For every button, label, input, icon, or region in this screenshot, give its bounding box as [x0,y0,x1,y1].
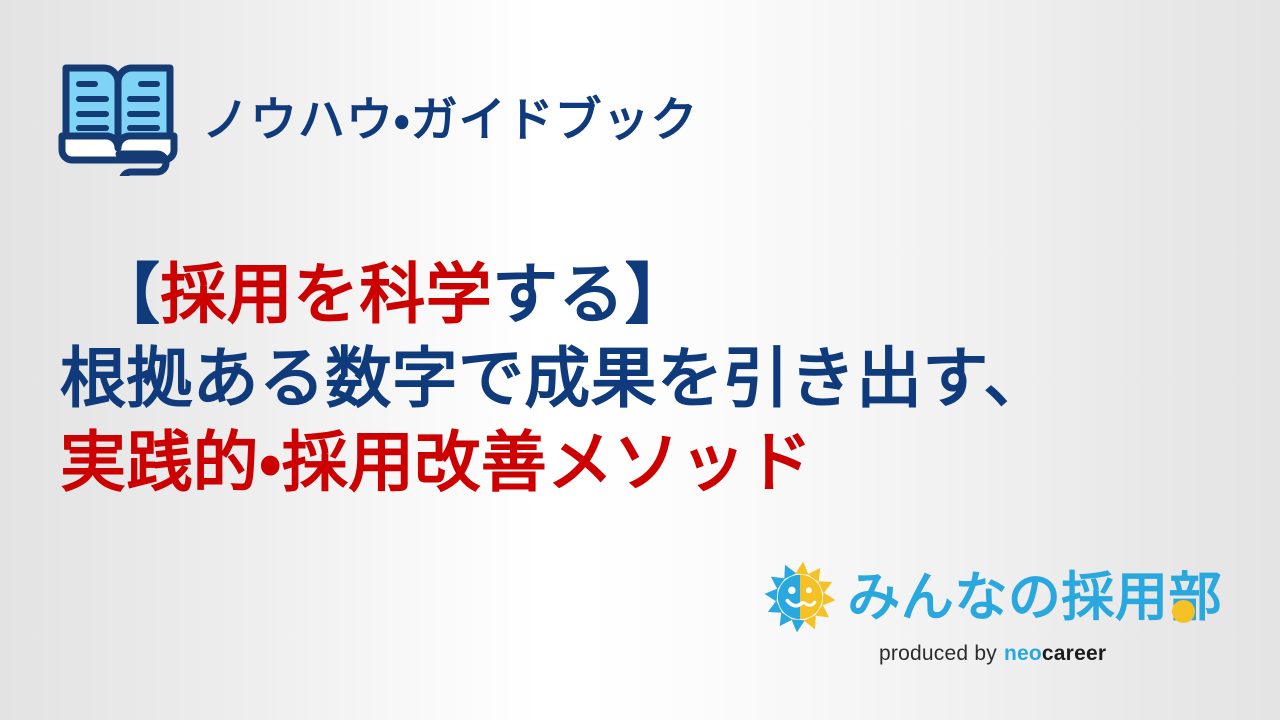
tagline-career: career [1042,642,1106,665]
header-label: ノウハウ・ガイドブック [202,96,698,143]
title-line-2-text: 根拠ある数字で成果を引き出す、 [60,341,1050,415]
title-line-1: 【採用を科学する】 [60,252,1180,336]
title-line-3: 実践的・採用改善メソッド [60,420,1180,504]
title-highlight-1: 採用を科学 [160,257,492,331]
page-title: 【採用を科学する】 根拠ある数字で成果を引き出す、 実践的・採用改善メソッド [60,252,1180,504]
title-line-3-text: 実践的・採用改善メソッド [60,425,812,499]
brand-name: みんなの採用部 [847,568,1222,627]
brand-logo: みんなの採用部 produced byneocareer [763,560,1222,664]
title-line-2: 根拠ある数字で成果を引き出す、 [60,336,1180,420]
brand-logo-row: みんなの採用部 [763,560,1222,634]
tagline-neo: neo [1004,642,1042,665]
header-badge: ノウハウ・ガイドブック [56,58,698,176]
tagline-prefix: produced by [879,642,997,665]
slide-canvas: ノウハウ・ガイドブック 【採用を科学する】 根拠ある数字で成果を引き出す、 実践… [0,0,1280,720]
sun-face-icon [763,560,837,634]
title-bracket-close: する】 [492,257,691,331]
title-bracket-open: 【 [94,257,160,331]
open-book-icon [56,58,180,176]
brand-tagline: produced byneocareer [879,643,1106,664]
brand-name-wrap: みんなの採用部 [847,571,1222,624]
